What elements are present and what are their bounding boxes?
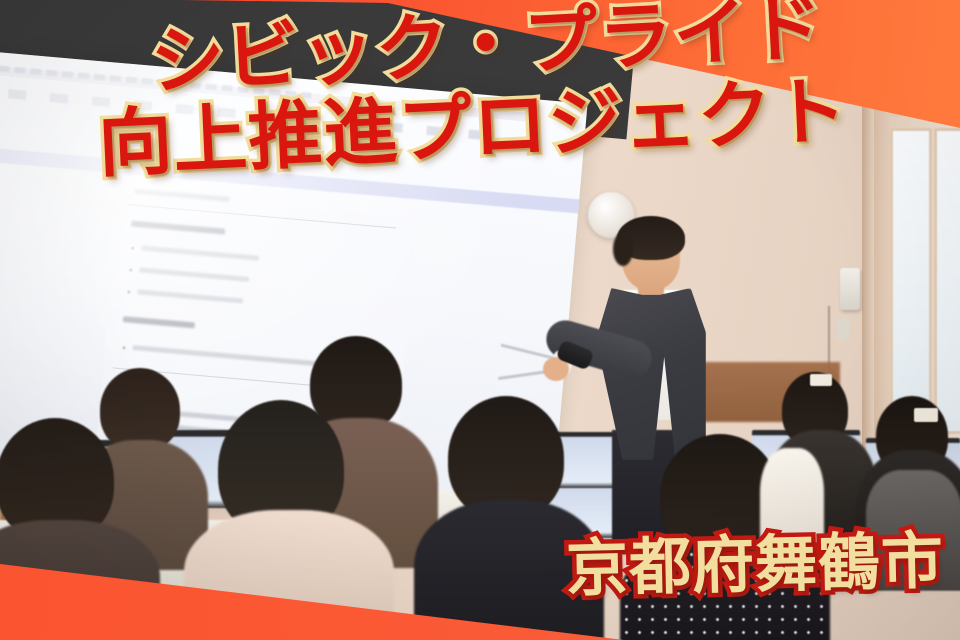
- headline-block: シビック・プライド 向上推進プロジェクト: [0, 8, 960, 167]
- promo-banner: の計画: [0, 0, 960, 640]
- door-window-right: [934, 128, 960, 434]
- presenter-hair-side: [613, 232, 633, 266]
- wall-telephone-icon: [840, 268, 860, 310]
- hair-clip-icon: [914, 408, 938, 422]
- hair-clip-icon: [810, 374, 832, 386]
- locality-label: 京都府舞鶴市: [565, 530, 944, 600]
- door-window-left: [890, 128, 932, 434]
